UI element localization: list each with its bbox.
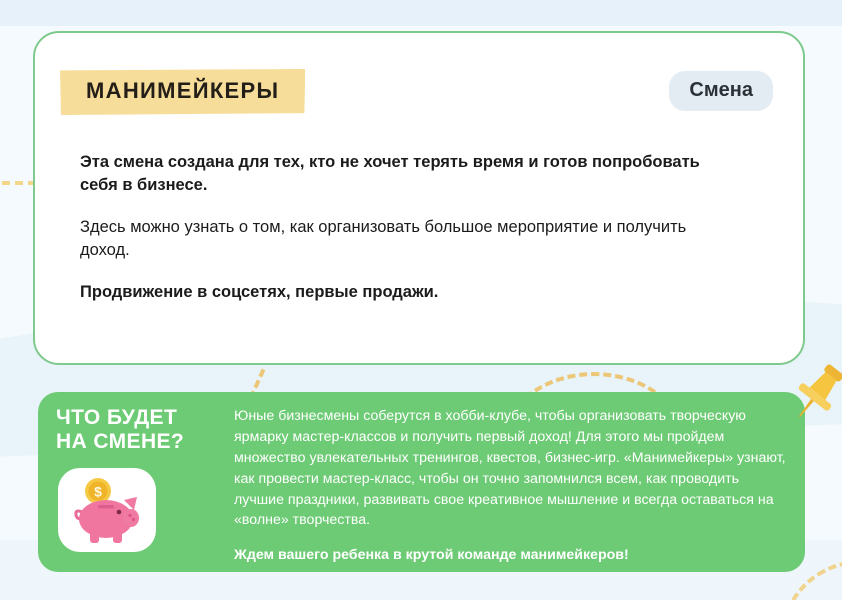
main-paragraph-2: Здесь можно узнать о том, как организова…: [80, 216, 740, 263]
green-panel-heading: ЧТО БУДЕТ НА СМЕНЕ?: [56, 406, 234, 453]
title-banner: МАНИМЕЙКЕРЫ: [60, 69, 305, 115]
green-paragraph-cta: Ждем вашего ребенка в крутой команде ман…: [234, 545, 787, 566]
green-paragraph-1: Юные бизнесмены соберутся в хобби-клубе,…: [234, 406, 787, 531]
page-title: МАНИМЕЙКЕРЫ: [86, 78, 279, 104]
status-badge: Смена: [669, 71, 773, 111]
main-paragraph-1: Эта смена создана для тех, кто не хочет …: [80, 151, 740, 198]
piggy-bank-icon: $: [68, 474, 146, 546]
svg-text:$: $: [94, 484, 102, 500]
dash-left-horizontal-decoration: [2, 181, 36, 185]
poster-page: МАНИМЕЙКЕРЫ Смена Эта смена создана для …: [0, 0, 842, 600]
background-top-band: [0, 0, 842, 26]
green-panel-left-column: ЧТО БУДЕТ НА СМЕНЕ?: [56, 406, 234, 453]
main-card-body: Эта смена создана для тех, кто не хочет …: [80, 151, 740, 304]
status-badge-label: Смена: [689, 79, 753, 102]
main-paragraph-3: Продвижение в соцсетях, первые продажи.: [80, 281, 740, 304]
what-happens-panel: ЧТО БУДЕТ НА СМЕНЕ? $: [38, 392, 805, 572]
main-info-card: МАНИМЕЙКЕРЫ Смена Эта смена создана для …: [33, 31, 805, 365]
piggy-bank-tile: $: [58, 468, 156, 552]
green-panel-body: Юные бизнесмены соберутся в хобби-клубе,…: [234, 406, 787, 566]
push-pin-icon: [788, 358, 842, 436]
